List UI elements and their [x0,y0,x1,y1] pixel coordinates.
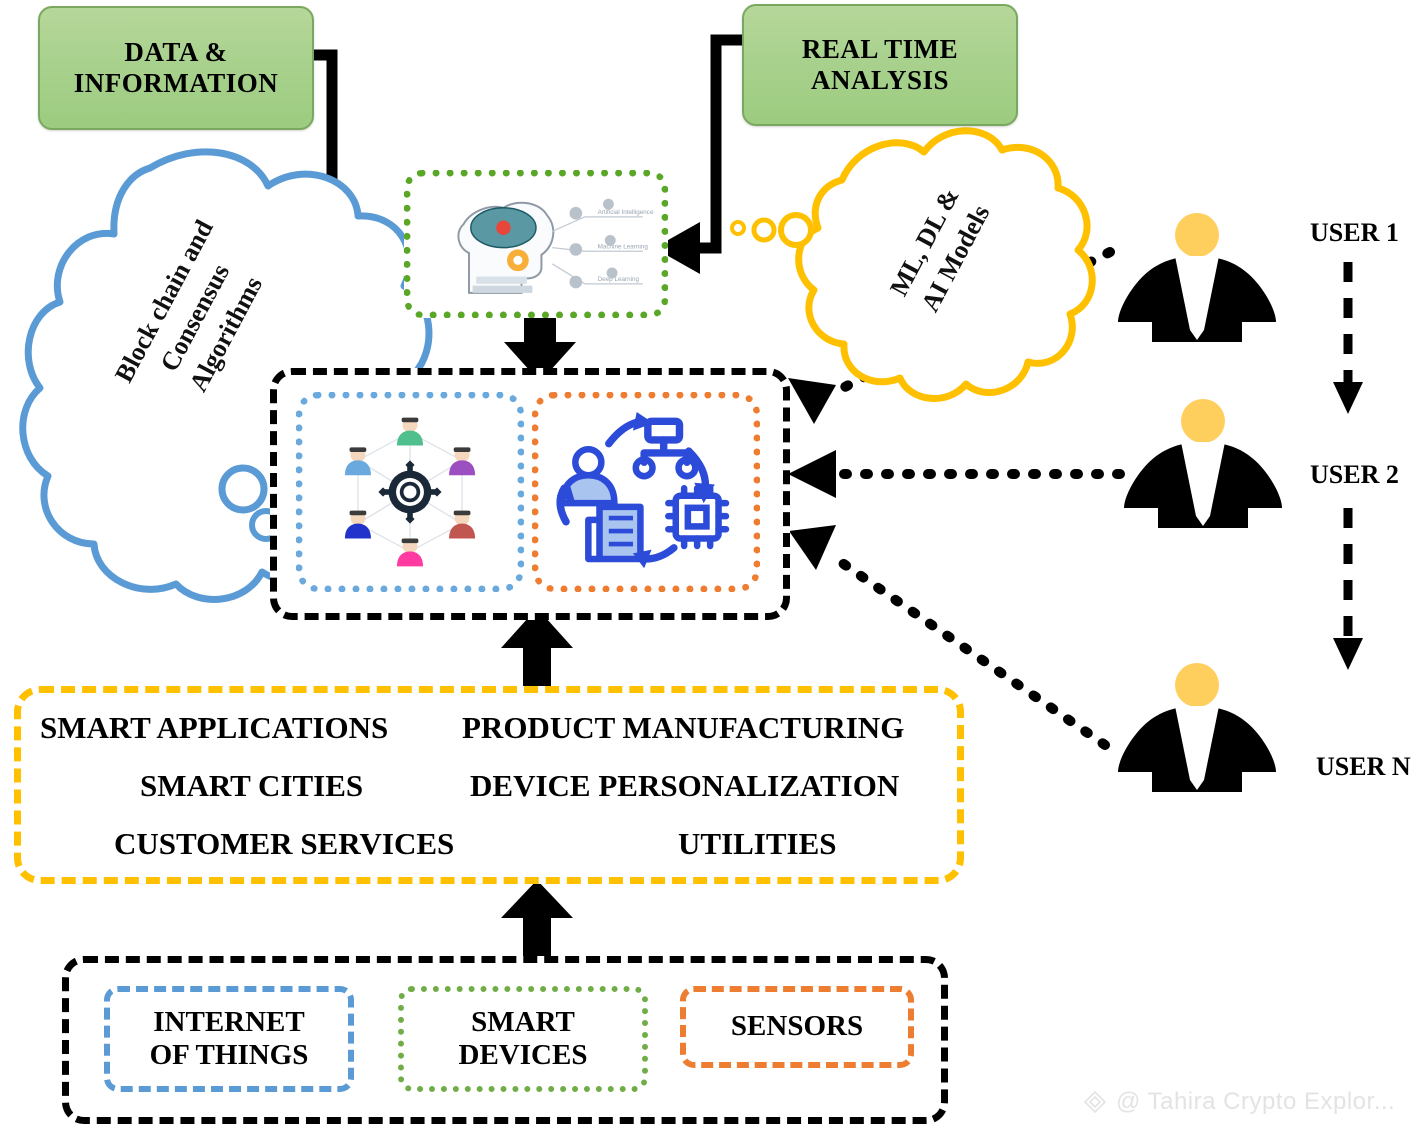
data-information-box: DATA & INFORMATION [38,6,314,130]
person-silhouette-icon [1112,662,1282,798]
app-utilities: UTILITIES [678,826,837,862]
diagram-canvas: DATA & INFORMATION REAL TIME ANALYSIS Bl… [0,0,1416,1134]
real-time-analysis-label: REAL TIME ANALYSIS [802,34,958,97]
svg-text:Artificial Intelligence: Artificial Intelligence [598,209,654,216]
smart-devices-label: SMART DEVICES [459,1006,588,1073]
person-silhouette-icon [1112,212,1282,348]
user-n-label: USER N [1316,752,1411,782]
applications-row-2: SMART CITIES DEVICE PERSONALIZATION [30,768,950,814]
sensors: SENSORS [680,986,914,1068]
user-2-figure [1118,398,1288,534]
svg-text:Deep Learning: Deep Learning [598,276,640,283]
ai-brain-node: Artificial Intelligence Machine Learning… [404,170,668,318]
user-2-label: USER 2 [1310,460,1399,490]
svg-text:Machine Learning: Machine Learning [598,244,649,251]
person-silhouette-icon [1118,398,1288,534]
user-1-label: USER 1 [1310,218,1399,248]
watermark: @ Tahira Crypto Explor... [1082,1088,1395,1116]
data-information-label: DATA & INFORMATION [74,37,279,100]
app-smart-applications: SMART APPLICATIONS [40,710,388,746]
diamond-logo-icon [1082,1089,1108,1115]
app-customer-services: CUSTOMER SERVICES [114,826,454,862]
federated-network-panel [296,392,524,592]
smart-devices: SMART DEVICES [398,986,648,1092]
user-robot-chip-document-cycle-illustration [539,399,753,585]
internet-of-things-label: INTERNET OF THINGS [150,1006,309,1073]
applications-row-3: CUSTOMER SERVICES UTILITIES [30,826,950,872]
ai-lifecycle-panel [532,392,760,592]
people-network-gear-illustration [303,399,517,585]
app-device-personalization: DEVICE PERSONALIZATION [470,768,899,804]
user-n-figure [1112,662,1282,798]
watermark-text: @ Tahira Crypto Explor... [1116,1088,1395,1116]
sensors-label: SENSORS [731,1010,863,1043]
app-smart-cities: SMART CITIES [140,768,363,804]
applications-row-1: SMART APPLICATIONS PRODUCT MANUFACTURING [30,710,950,756]
user-1-figure [1112,212,1282,348]
internet-of-things: INTERNET OF THINGS [104,986,354,1092]
ai-brain-illustration: Artificial Intelligence Machine Learning… [411,177,661,311]
app-product-manufacturing: PRODUCT MANUFACTURING [462,710,904,746]
